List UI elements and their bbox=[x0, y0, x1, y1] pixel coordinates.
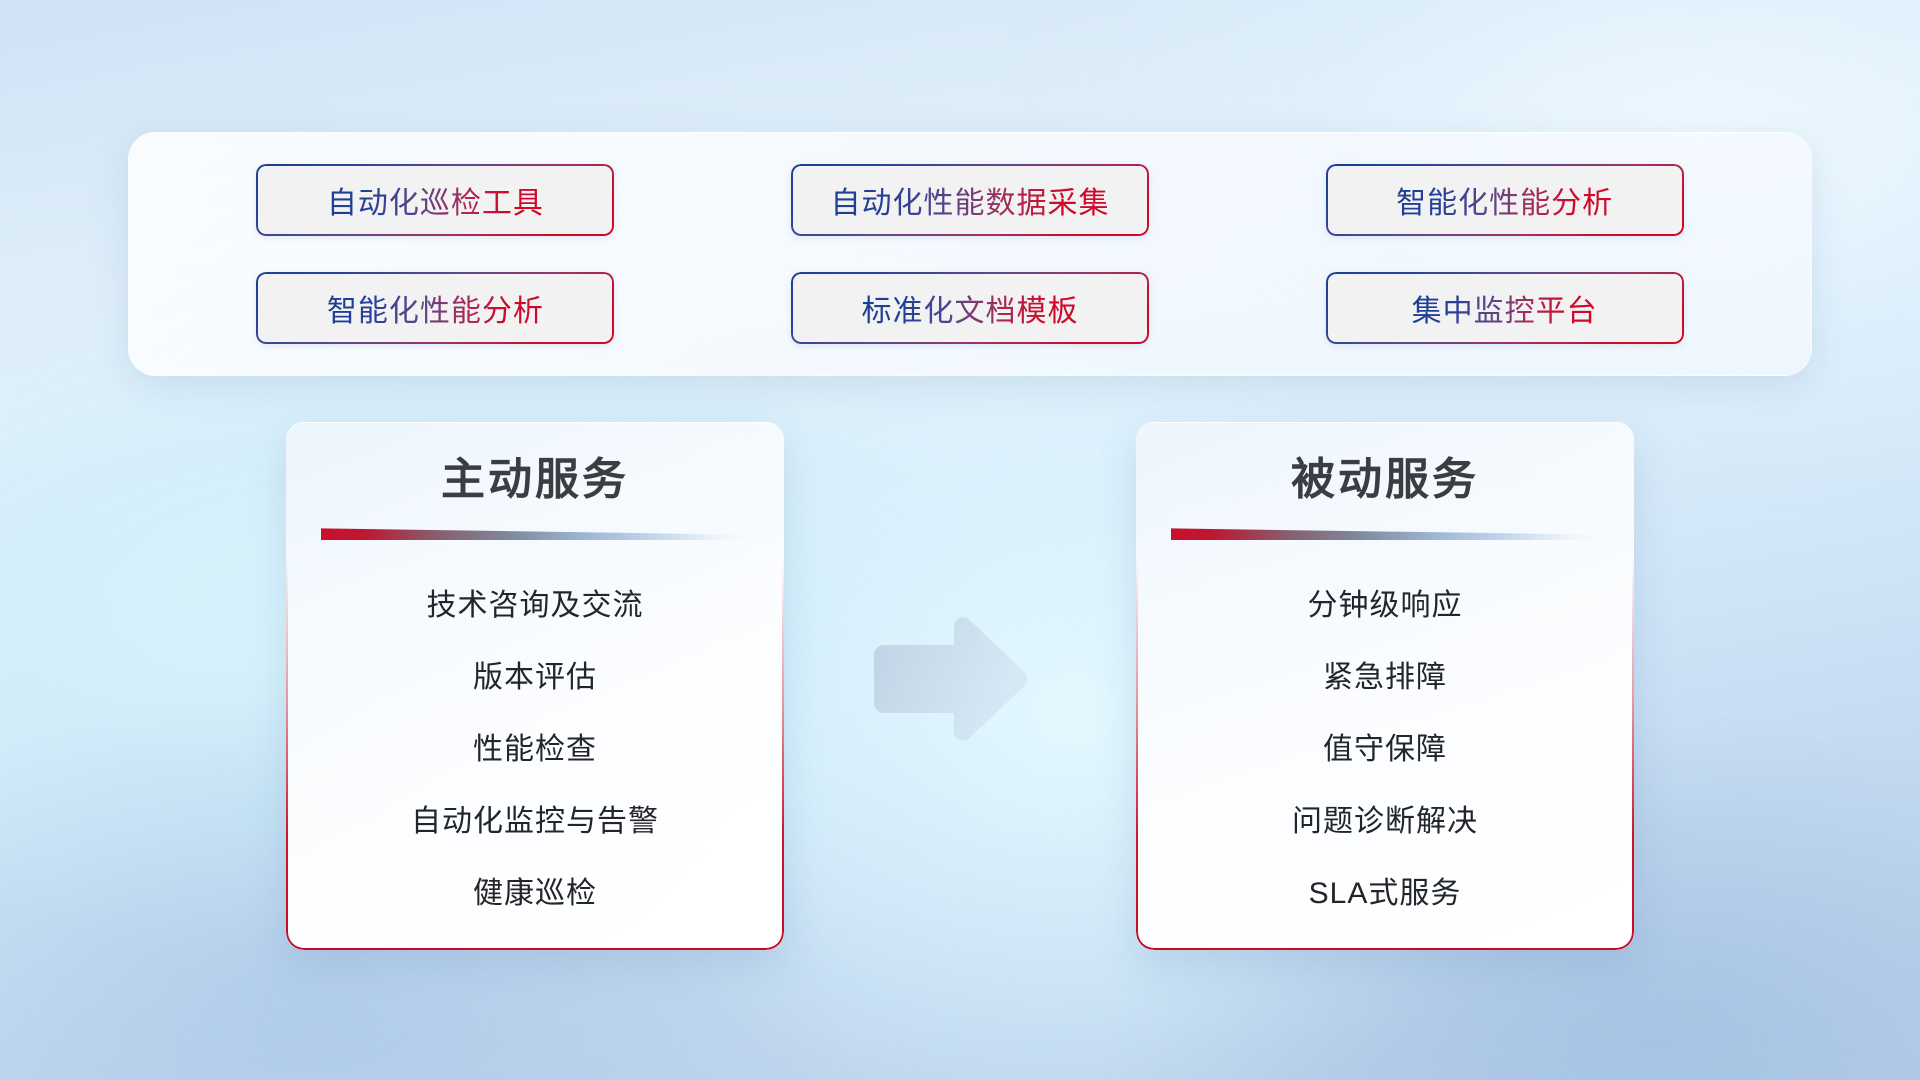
capability-pill-label: 自动化巡检工具 bbox=[327, 178, 544, 222]
service-card-reactive[interactable]: 被动服务 分钟级响应 紧急排障 值守保障 问题诊断解决 SLA式服务 bbox=[1136, 422, 1634, 950]
list-item: SLA式服务 bbox=[1309, 858, 1462, 930]
service-list-reactive: 分钟级响应 紧急排障 值守保障 问题诊断解决 SLA式服务 bbox=[1136, 570, 1634, 930]
capability-pill-label: 标准化文档模板 bbox=[861, 286, 1078, 330]
list-item: 分钟级响应 bbox=[1308, 570, 1463, 642]
arrow-right-icon bbox=[868, 614, 1032, 744]
capability-pill-2[interactable]: 自动化性能数据采集 bbox=[791, 164, 1149, 236]
capabilities-panel: 自动化巡检工具 自动化性能数据采集 智能化性能分析 智能化性能分析 标准化文档模… bbox=[128, 132, 1812, 376]
list-item: 紧急排障 bbox=[1323, 642, 1447, 714]
card-divider-wedge bbox=[321, 528, 749, 540]
capability-pill-label: 智能化性能分析 bbox=[1396, 178, 1613, 222]
list-item: 版本评估 bbox=[473, 642, 597, 714]
list-item: 值守保障 bbox=[1323, 714, 1447, 786]
capability-pill-5[interactable]: 标准化文档模板 bbox=[791, 272, 1149, 344]
card-divider bbox=[1171, 528, 1599, 540]
capability-pill-label: 集中监控平台 bbox=[1412, 286, 1598, 330]
capability-pill-3[interactable]: 智能化性能分析 bbox=[1326, 164, 1684, 236]
card-title: 主动服务 bbox=[441, 456, 629, 504]
card-title: 被动服务 bbox=[1291, 456, 1479, 504]
card-divider-wedge bbox=[1171, 528, 1599, 540]
capability-pill-label: 自动化性能数据采集 bbox=[830, 178, 1109, 222]
service-card-proactive[interactable]: 主动服务 技术咨询及交流 版本评估 性能检查 自动化监控与告警 健康巡检 bbox=[286, 422, 784, 950]
capability-pill-4[interactable]: 智能化性能分析 bbox=[256, 272, 614, 344]
capability-pill-label: 智能化性能分析 bbox=[327, 286, 544, 330]
list-item: 问题诊断解决 bbox=[1292, 786, 1478, 858]
service-list-proactive: 技术咨询及交流 版本评估 性能检查 自动化监控与告警 健康巡检 bbox=[286, 570, 784, 930]
capability-pill-6[interactable]: 集中监控平台 bbox=[1326, 272, 1684, 344]
list-item: 性能检查 bbox=[473, 714, 597, 786]
card-divider bbox=[321, 528, 749, 540]
capability-pill-1[interactable]: 自动化巡检工具 bbox=[256, 164, 614, 236]
list-item: 自动化监控与告警 bbox=[411, 786, 659, 858]
list-item: 健康巡检 bbox=[473, 858, 597, 930]
list-item: 技术咨询及交流 bbox=[427, 570, 644, 642]
